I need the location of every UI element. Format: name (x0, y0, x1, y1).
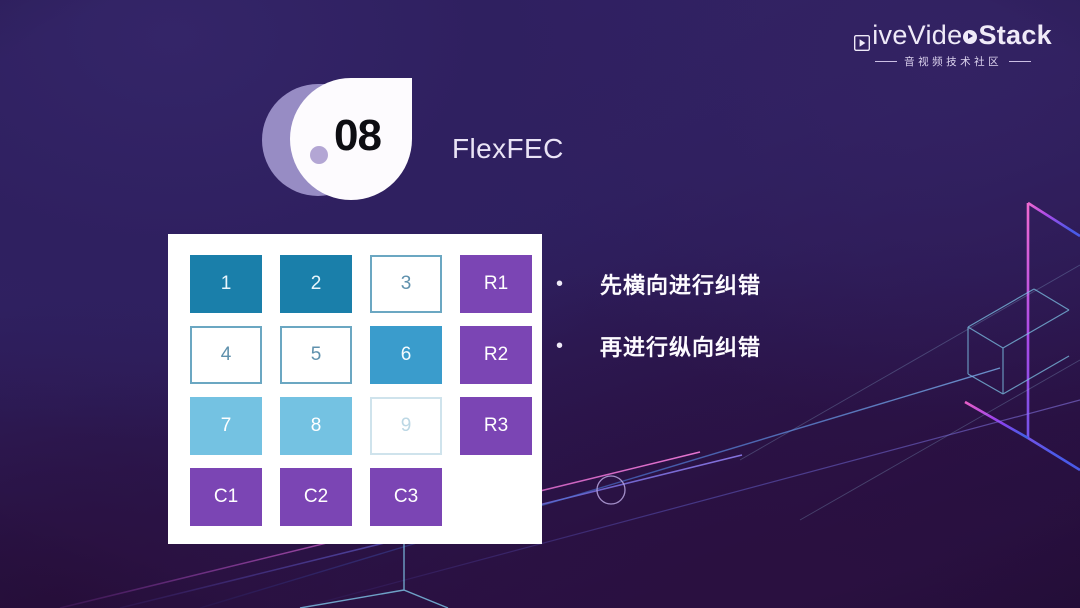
logo-wordmark: ive Vide Stack (854, 22, 1052, 49)
flexfec-grid: 1 2 3 R1 4 5 6 R2 7 8 9 R3 C1 C2 C3 (190, 255, 532, 526)
livevideostack-logo: ive Vide Stack 音视频技术社区 (854, 22, 1052, 69)
play-icon (854, 29, 870, 45)
logo-text-live: ive (872, 22, 907, 49)
grid-cell-blank (460, 468, 532, 526)
slide-root: ive Vide Stack 音视频技术社区 08 FlexFEC 1 2 3 … (0, 0, 1080, 608)
grid-cell-c3: C3 (370, 468, 442, 526)
bullet-marker-icon: • (556, 336, 574, 356)
grid-cell-7: 7 (190, 397, 262, 455)
logo-rule-right (1009, 61, 1031, 62)
grid-cell-4: 4 (190, 326, 262, 384)
grid-cell-8: 8 (280, 397, 352, 455)
grid-cell-c1: C1 (190, 468, 262, 526)
grid-cell-9: 9 (370, 397, 442, 455)
bullet-list: • 先横向进行纠错 • 再进行纵向纠错 (556, 268, 886, 392)
bullet-item-1: • 先横向进行纠错 (556, 268, 886, 300)
logo-text-stack: Stack (978, 22, 1052, 49)
grid-cell-1: 1 (190, 255, 262, 313)
badge-number: 08 (334, 114, 381, 158)
logo-subtitle-row: 音视频技术社区 (854, 54, 1052, 69)
grid-cell-5: 5 (280, 326, 352, 384)
section-badge: 08 (262, 78, 442, 200)
bullet-marker-icon: • (556, 274, 574, 294)
bullet-item-2: • 再进行纵向纠错 (556, 330, 886, 362)
badge-accent-dot (310, 146, 328, 164)
logo-rule-left (875, 61, 897, 62)
logo-subtitle: 音视频技术社区 (904, 54, 1002, 69)
page-title: FlexFEC (452, 133, 564, 165)
grid-cell-6: 6 (370, 326, 442, 384)
grid-cell-c2: C2 (280, 468, 352, 526)
diagram-panel: 1 2 3 R1 4 5 6 R2 7 8 9 R3 C1 C2 C3 (168, 234, 542, 544)
grid-cell-r3: R3 (460, 397, 532, 455)
bullet-text-1: 先横向进行纠错 (600, 268, 761, 300)
grid-cell-r2: R2 (460, 326, 532, 384)
grid-cell-r1: R1 (460, 255, 532, 313)
bullet-text-2: 再进行纵向纠错 (600, 330, 761, 362)
grid-cell-2: 2 (280, 255, 352, 313)
logo-play-circle-icon (963, 30, 977, 44)
logo-text-video: Vide (908, 22, 963, 49)
grid-cell-3: 3 (370, 255, 442, 313)
